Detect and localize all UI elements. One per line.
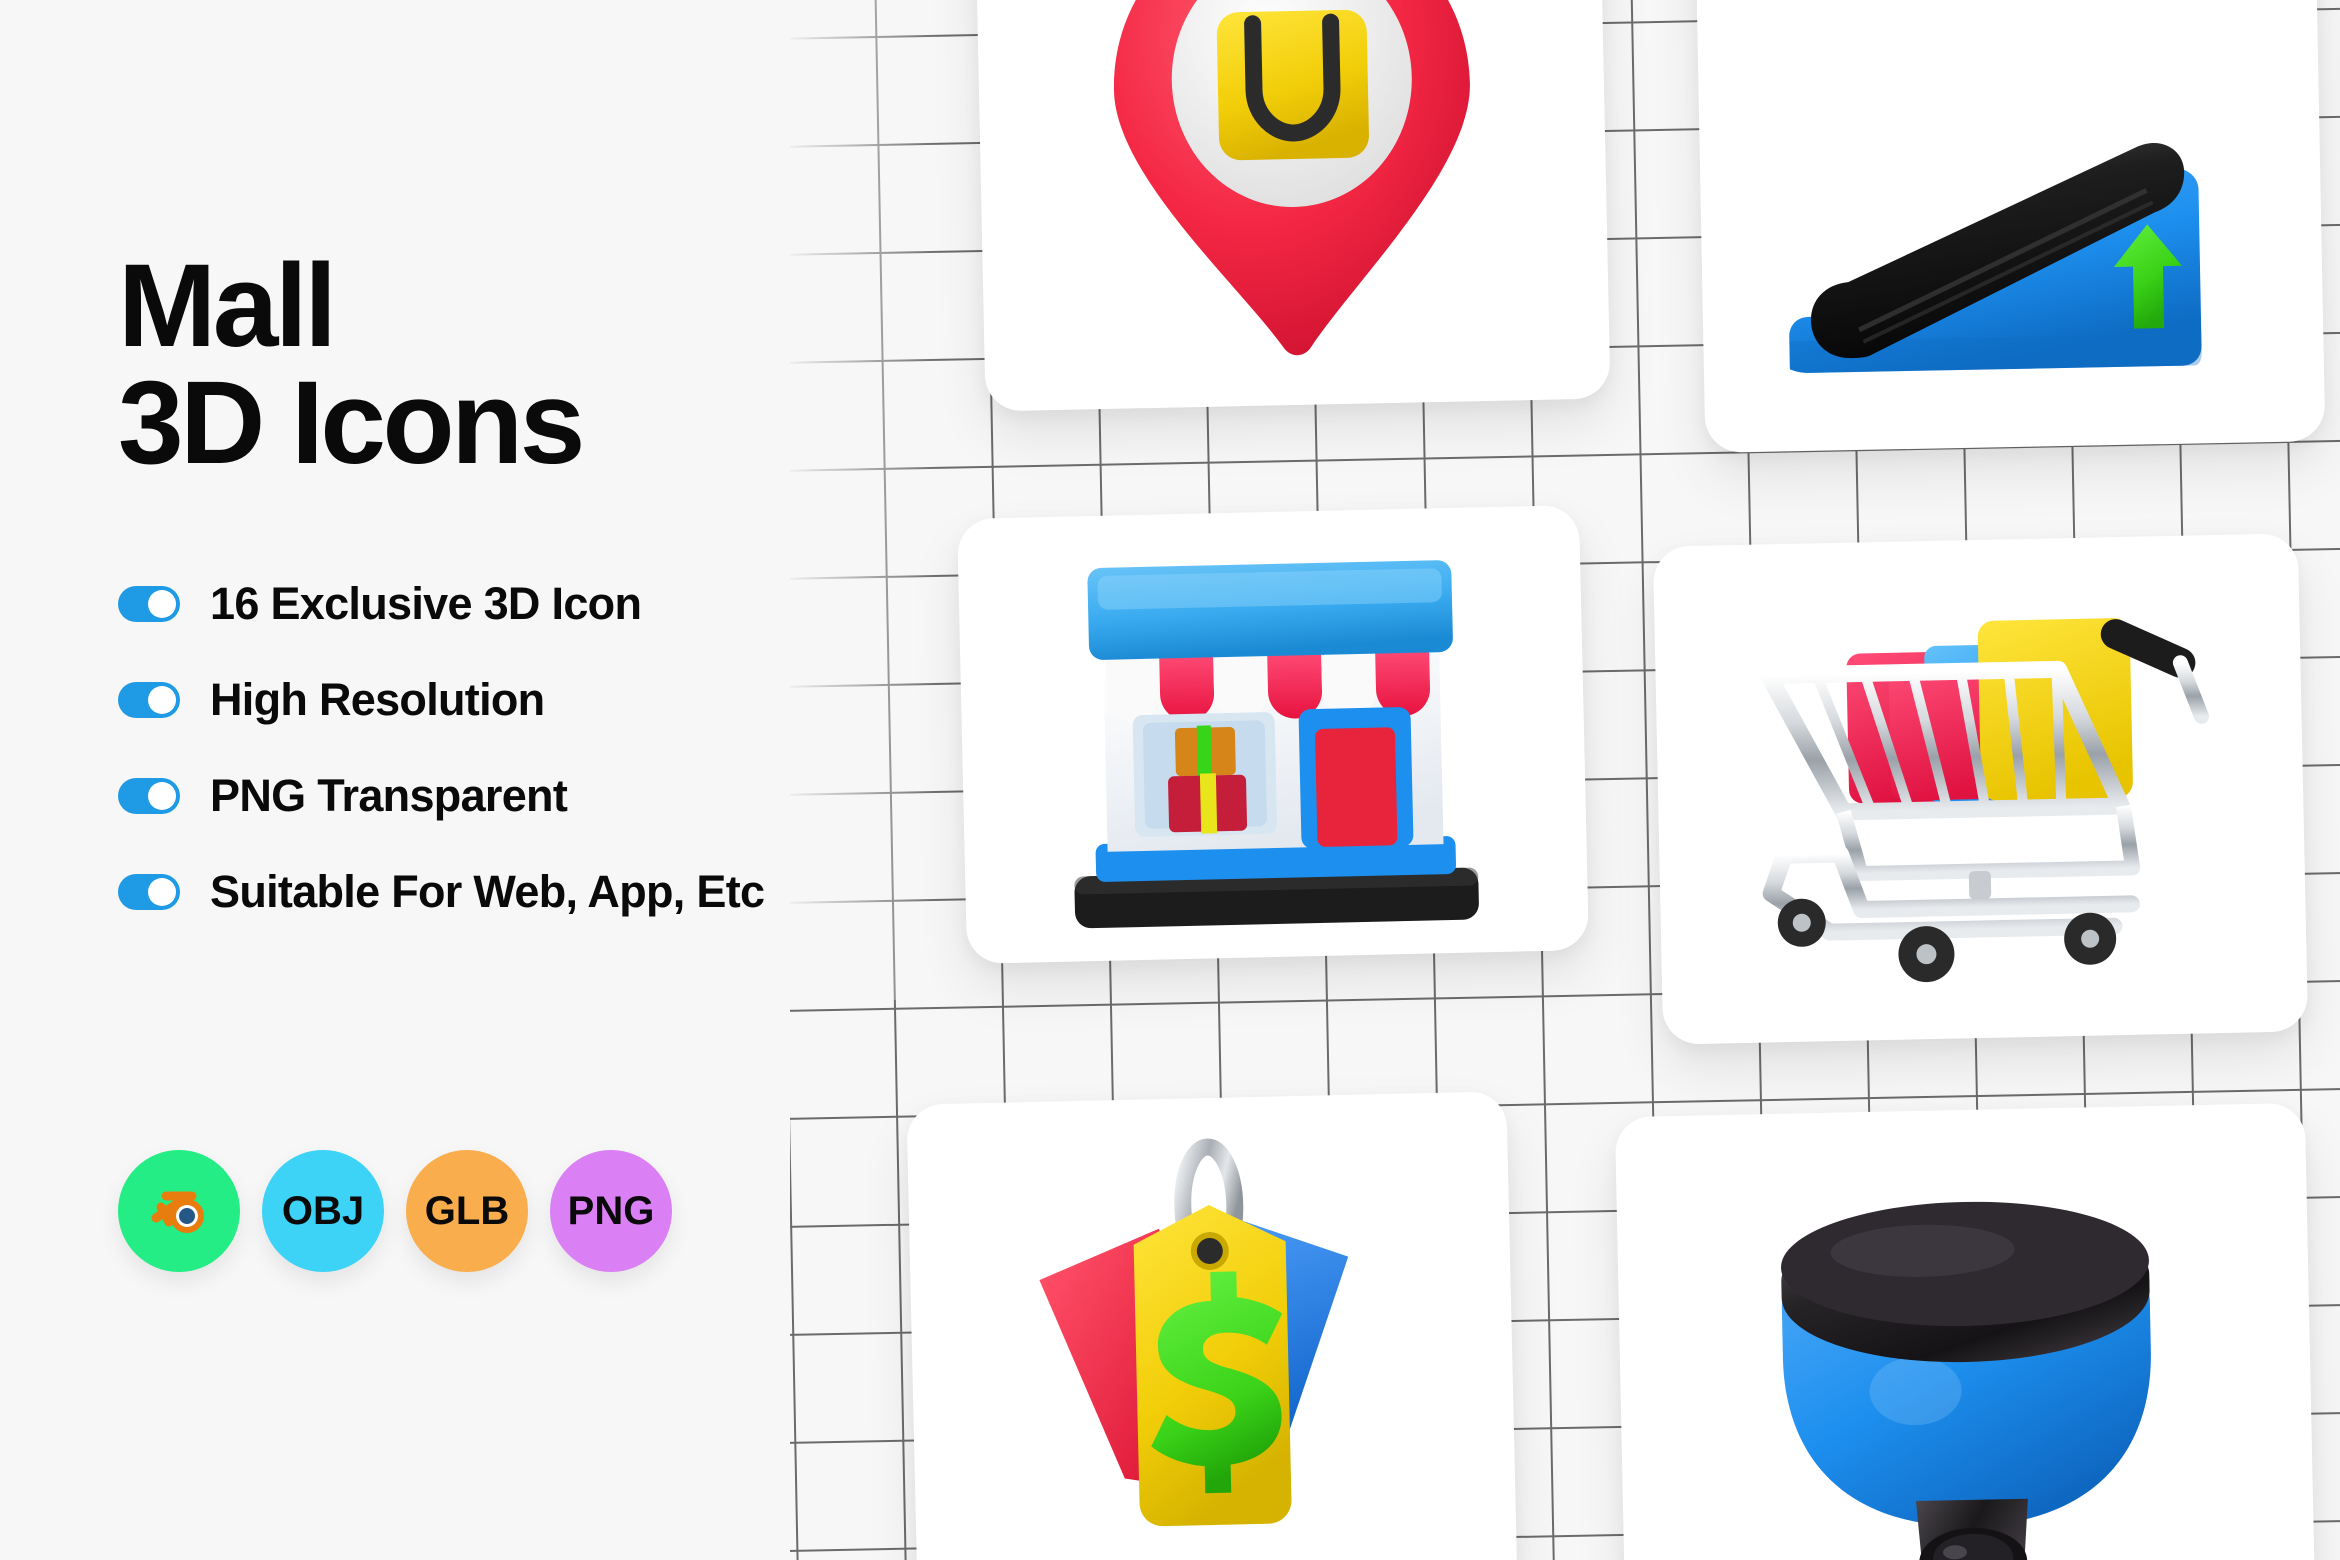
page-title-line2: 3D Icons	[118, 365, 582, 482]
feature-label-2: PNG Transparent	[210, 770, 567, 822]
format-badge-list: OBJ GLB PNG	[118, 1150, 672, 1272]
feature-item-2: PNG Transparent	[118, 770, 764, 822]
stool-seat-icon	[1721, 1149, 2211, 1560]
feature-item-1: High Resolution	[118, 674, 764, 726]
toggle-switch-3[interactable]	[118, 874, 180, 910]
card-art	[974, 0, 1610, 411]
icon-card-store-front[interactable]	[957, 505, 1589, 964]
feature-label-1: High Resolution	[210, 674, 544, 726]
badge-png[interactable]: PNG	[550, 1150, 672, 1272]
toggle-knob	[148, 590, 176, 618]
card-art	[1653, 533, 2308, 1044]
page-title-line1: Mall	[118, 248, 582, 365]
icon-card-shopping-cart[interactable]	[1653, 533, 2308, 1044]
card-art	[1615, 1103, 2315, 1560]
feature-label-0: 16 Exclusive 3D Icon	[210, 578, 641, 630]
toggle-switch-0[interactable]	[118, 586, 180, 622]
toggle-knob	[148, 782, 176, 810]
location-pin-shopping-bag-icon	[1078, 0, 1508, 377]
shopping-cart-full-icon	[1726, 584, 2234, 994]
badge-glb[interactable]: GLB	[406, 1150, 528, 1272]
card-art	[1695, 0, 2326, 453]
toggle-switch-1[interactable]	[118, 682, 180, 718]
page-title: Mall 3D Icons	[118, 248, 582, 482]
card-art	[906, 1091, 1517, 1560]
feature-item-0: 16 Exclusive 3D Icon	[118, 578, 764, 630]
toggle-knob	[148, 686, 176, 714]
badge-blender[interactable]	[118, 1150, 240, 1272]
icon-card-price-tags[interactable]	[906, 1091, 1517, 1560]
icon-card-location-pin[interactable]	[974, 0, 1610, 411]
badge-obj[interactable]: OBJ	[262, 1150, 384, 1272]
toggle-switch-2[interactable]	[118, 778, 180, 814]
escalator-up-icon	[1758, 60, 2264, 400]
icon-card-escalator[interactable]	[1695, 0, 2326, 453]
blender-logo-icon	[142, 1174, 216, 1248]
card-art	[957, 505, 1589, 964]
store-front-icon	[1059, 535, 1488, 934]
icon-card-stool[interactable]	[1615, 1103, 2315, 1560]
feature-list: 16 Exclusive 3D Icon High Resolution PNG…	[118, 578, 764, 918]
price-tags-dollar-icon	[1007, 1129, 1417, 1560]
left-info-panel: Mall 3D Icons 16 Exclusive 3D Icon High …	[0, 0, 960, 1560]
toggle-knob	[148, 878, 176, 906]
feature-label-3: Suitable For Web, App, Etc	[210, 866, 764, 918]
feature-item-3: Suitable For Web, App, Etc	[118, 866, 764, 918]
